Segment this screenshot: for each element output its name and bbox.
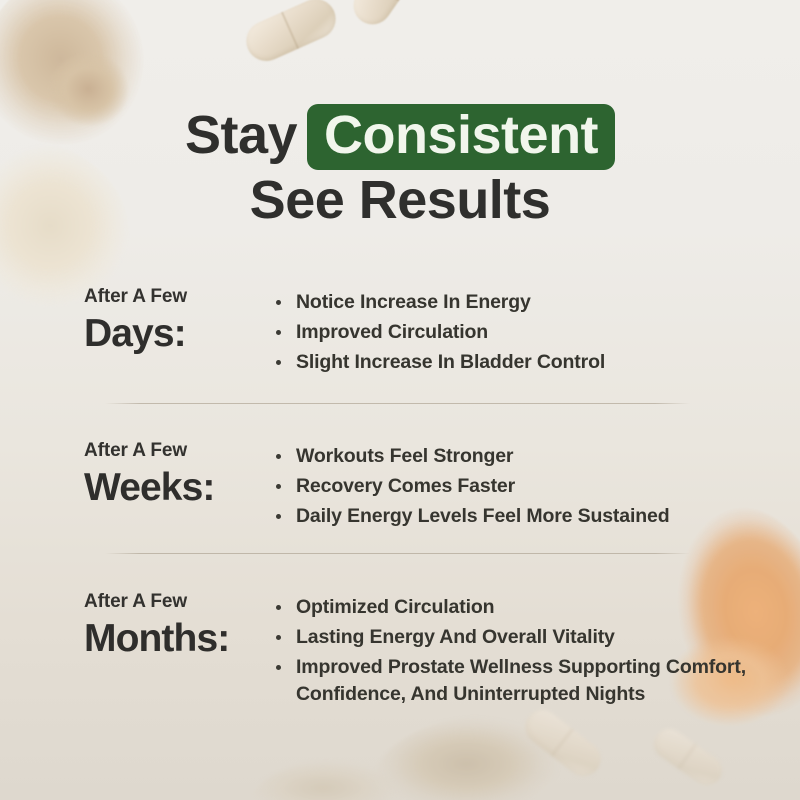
- poster-canvas: StayConsistent See Results After A Few D…: [0, 0, 800, 800]
- phase-main-label-weeks: Weeks:: [84, 466, 192, 510]
- phase-label-weeks: After A Few Weeks:: [0, 437, 192, 510]
- phase-label-days: After A Few Days:: [0, 283, 192, 356]
- phase-main-label-days: Days:: [84, 312, 192, 356]
- timeline-section-weeks: After A Few Weeks: Workouts Feel Stronge…: [0, 437, 800, 533]
- section-divider-1: [105, 403, 690, 404]
- phase-label-months: After A Few Months:: [0, 588, 192, 661]
- headline-line-1: StayConsistent: [0, 104, 800, 170]
- benefit-list-days: Notice Increase In Energy Improved Circu…: [265, 283, 800, 376]
- list-item: Slight Increase In Bladder Control: [265, 349, 760, 376]
- list-item: Improved Circulation: [265, 319, 760, 346]
- section-divider-2: [105, 553, 690, 554]
- benefit-wrap-days: Notice Increase In Energy Improved Circu…: [192, 283, 800, 379]
- benefit-wrap-months: Optimized Circulation Lasting Energy And…: [192, 588, 800, 711]
- phase-main-label-months: Months:: [84, 617, 192, 661]
- list-item: Recovery Comes Faster: [265, 473, 760, 500]
- benefit-wrap-weeks: Workouts Feel Stronger Recovery Comes Fa…: [192, 437, 800, 533]
- headline-block: StayConsistent See Results: [0, 104, 800, 230]
- benefit-list-weeks: Workouts Feel Stronger Recovery Comes Fa…: [265, 437, 800, 530]
- phase-pre-label-weeks: After A Few: [84, 441, 192, 460]
- headline-line-2: See Results: [0, 170, 800, 230]
- timeline-section-days: After A Few Days: Notice Increase In Ene…: [0, 283, 800, 379]
- list-item: Optimized Circulation: [265, 594, 760, 621]
- list-item: Workouts Feel Stronger: [265, 443, 760, 470]
- headline-word-stay: Stay: [185, 105, 297, 165]
- list-item: Notice Increase In Energy: [265, 289, 760, 316]
- headline-highlight-consistent: Consistent: [307, 104, 615, 170]
- timeline-section-months: After A Few Months: Optimized Circulatio…: [0, 588, 800, 711]
- benefit-list-months: Optimized Circulation Lasting Energy And…: [265, 588, 800, 708]
- list-item: Improved Prostate Wellness Supporting Co…: [265, 654, 760, 708]
- phase-pre-label-days: After A Few: [84, 287, 192, 306]
- list-item: Lasting Energy And Overall Vitality: [265, 624, 760, 651]
- phase-pre-label-months: After A Few: [84, 592, 192, 611]
- list-item: Daily Energy Levels Feel More Sustained: [265, 503, 760, 530]
